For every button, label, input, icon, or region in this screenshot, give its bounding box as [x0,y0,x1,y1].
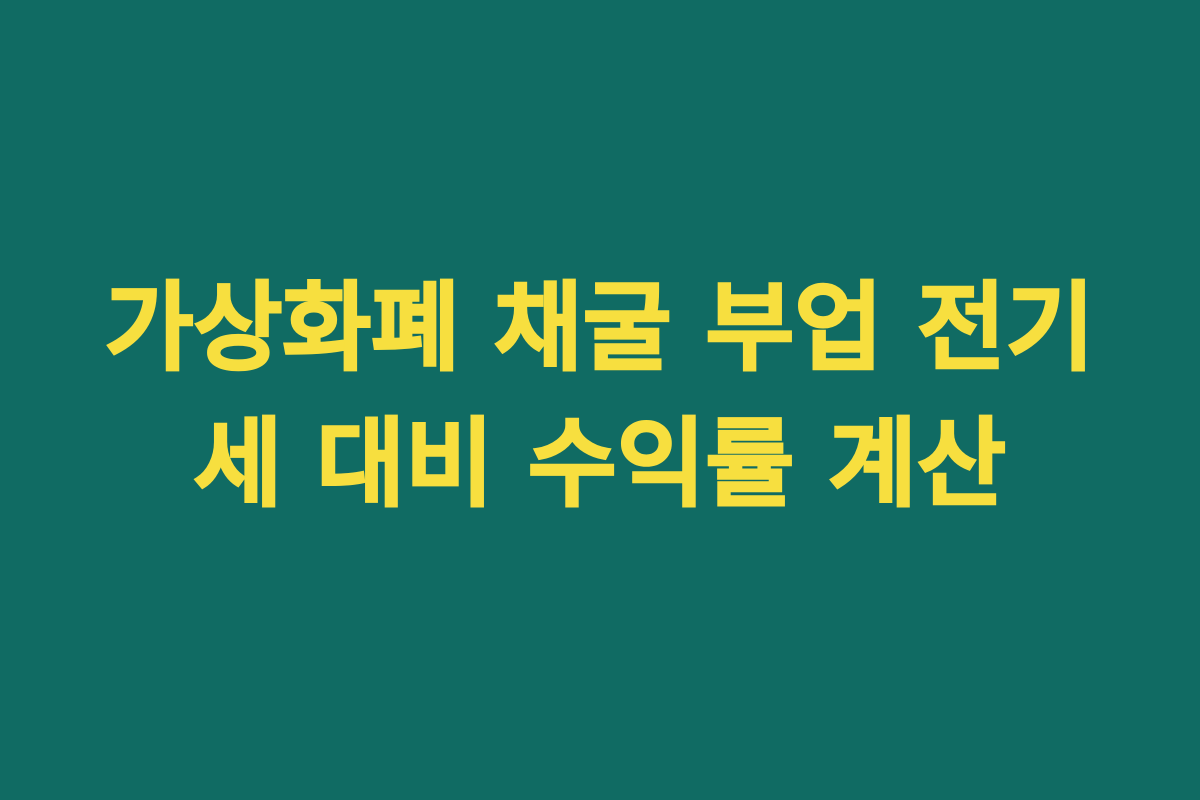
title-banner: 가상화폐 채굴 부업 전기 세 대비 수익률 계산 [0,0,1200,800]
title-line-1: 가상화폐 채굴 부업 전기 [105,260,1095,396]
title-line-2: 세 대비 수익률 계산 [194,396,1006,532]
page-title: 가상화폐 채굴 부업 전기 세 대비 수익률 계산 [40,260,1160,532]
